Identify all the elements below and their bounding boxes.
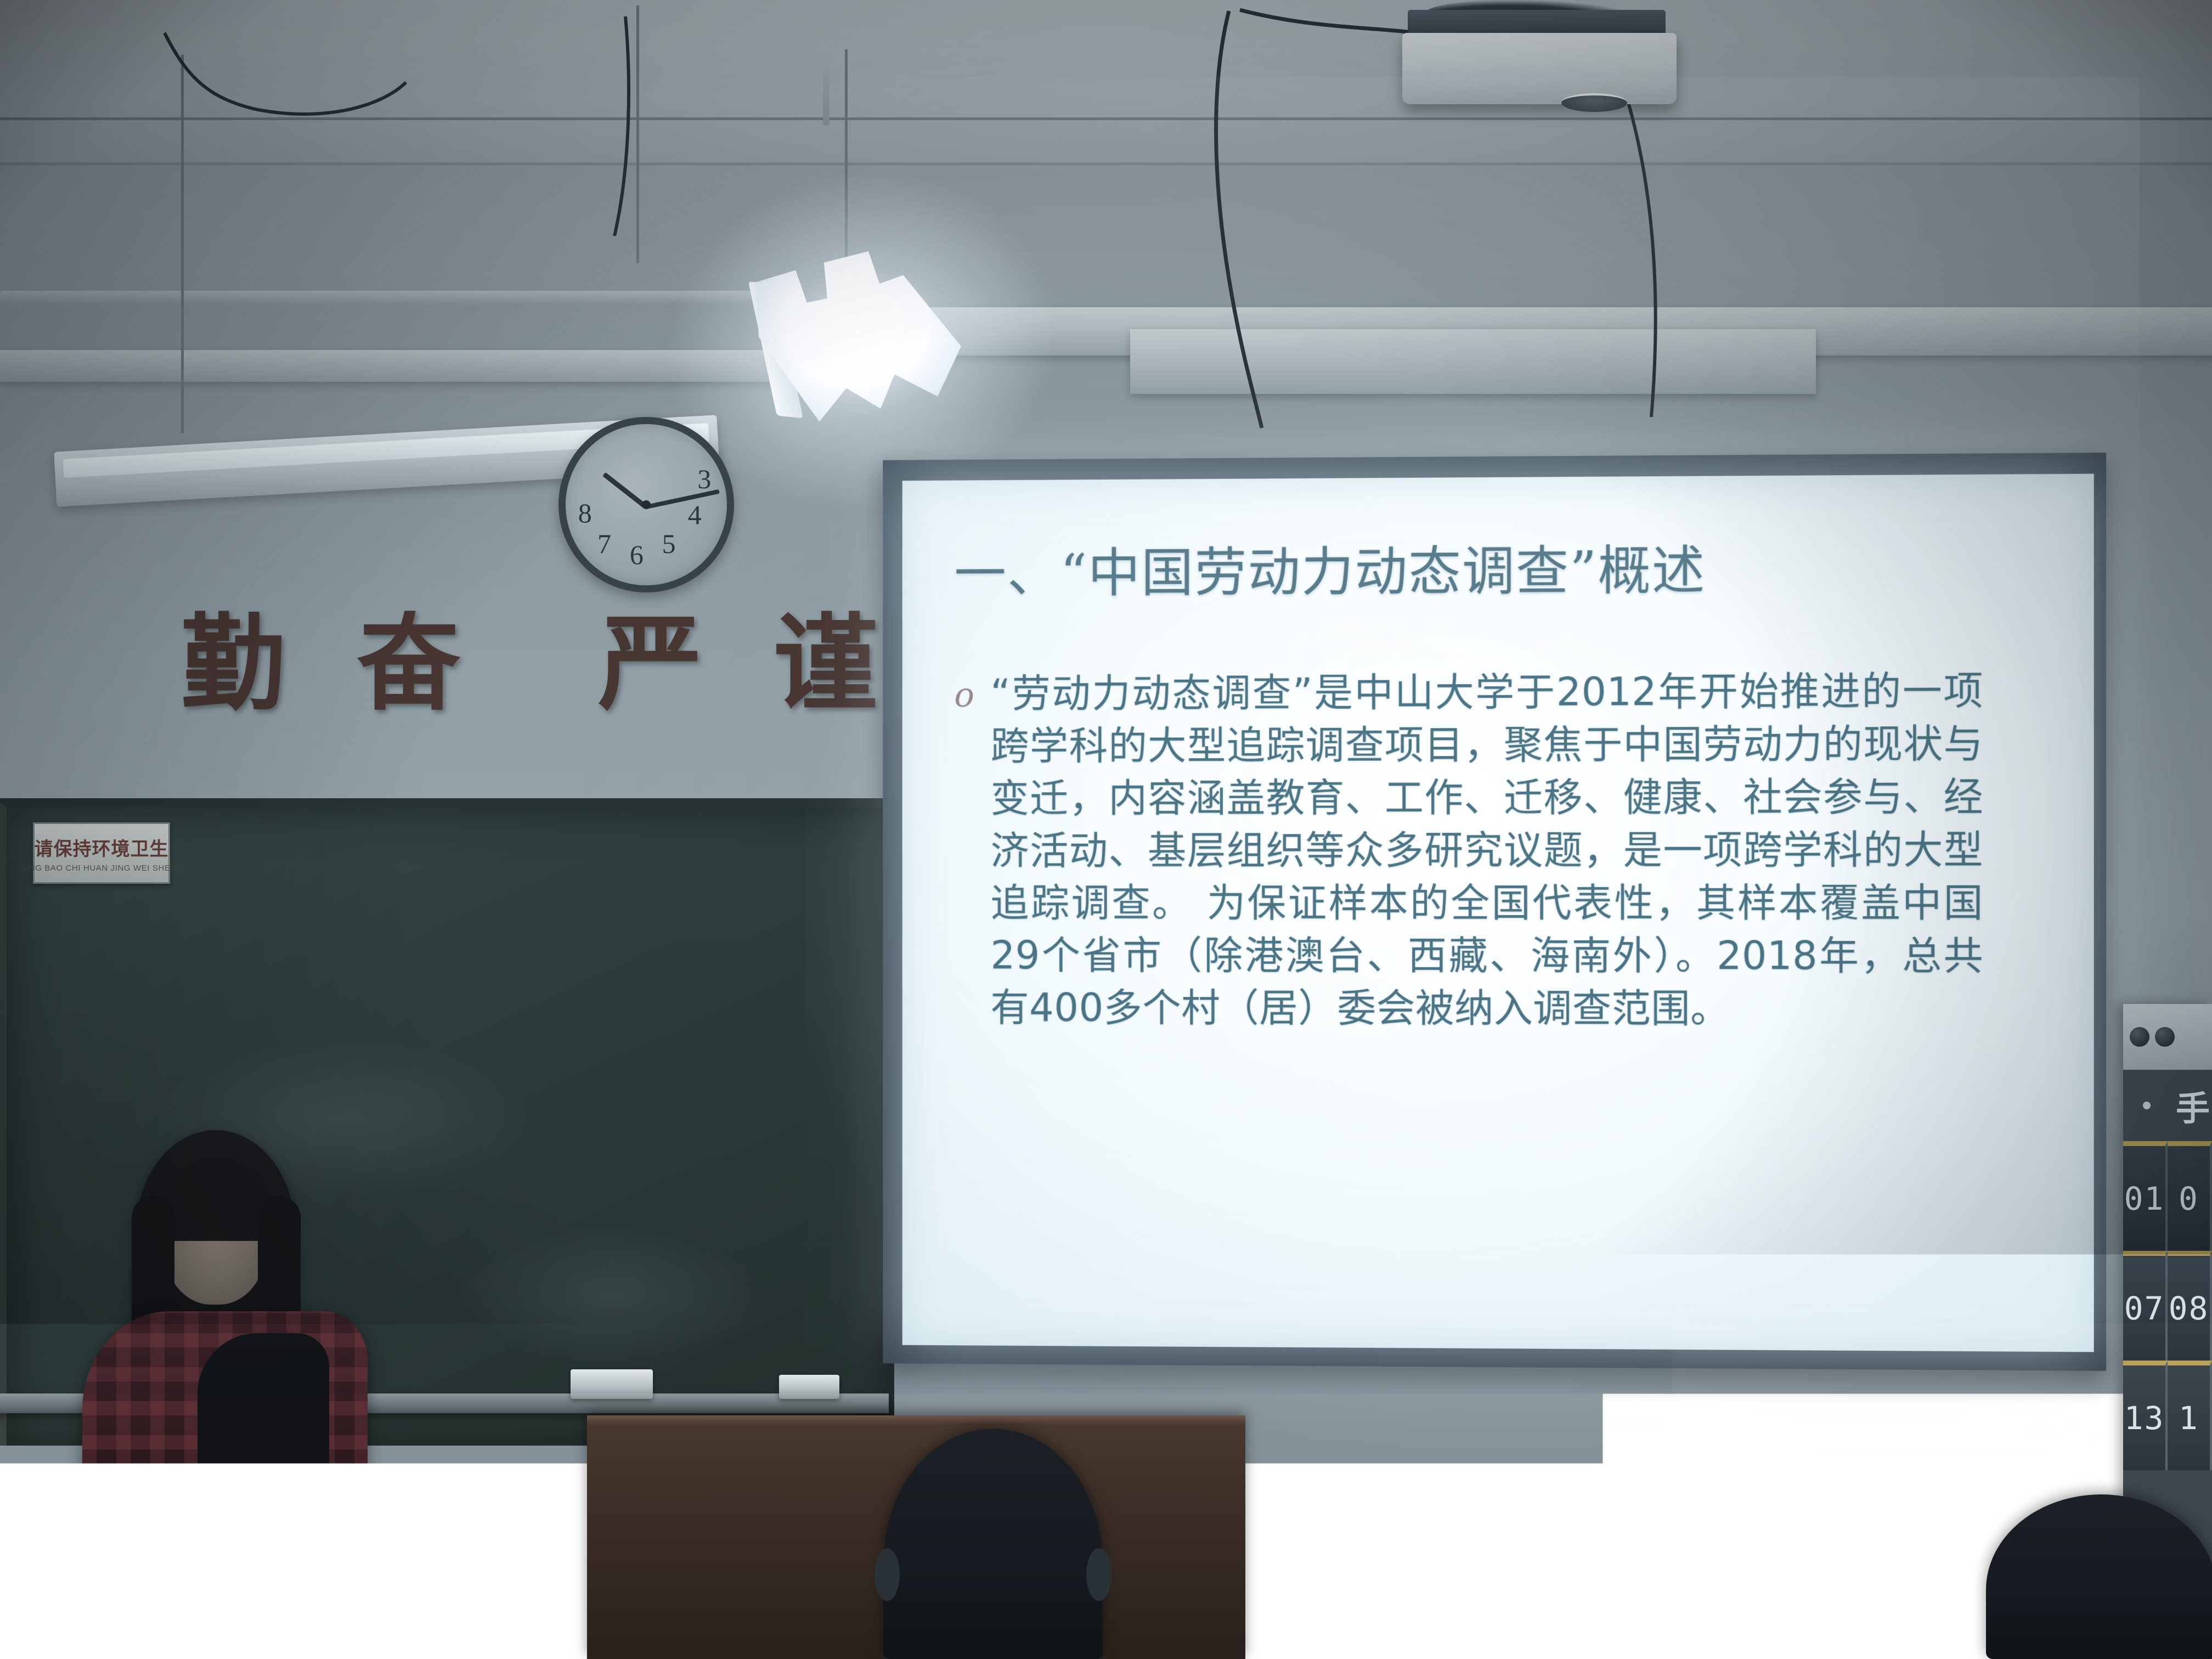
pocket-slot[interactable]: 13 xyxy=(2123,1361,2168,1470)
clock-numeral-6: 6 xyxy=(630,539,644,571)
pocket-slot[interactable]: 01 xyxy=(2123,1141,2168,1251)
projector-lens xyxy=(1561,93,1627,112)
hair-clip xyxy=(280,1554,316,1590)
slogan-char-1: 勤 xyxy=(181,606,285,721)
ceiling-wires xyxy=(0,0,2212,494)
pocket-chart-title: 手 xyxy=(2123,1075,2212,1136)
clock-hour-hand xyxy=(602,472,648,509)
bullet-icon: o xyxy=(954,668,974,1034)
pocket-chart-knob xyxy=(2130,1027,2149,1047)
hygiene-sign-pinyin: QING BAO CHI HUAN JING WEI SHENG xyxy=(20,864,183,873)
slide-title: 一、“中国劳动力动态调查”概述 xyxy=(954,539,2044,603)
slogan-char-3: 严 xyxy=(598,606,702,721)
blackboard-eraser[interactable] xyxy=(571,1369,653,1399)
classroom-scene: 3 4 5 6 7 8 勤 奋 严 谨 请保持环境卫生 QING BAO CHI… xyxy=(0,0,2212,1659)
clock-center-hub xyxy=(642,500,651,509)
ceiling-projector[interactable] xyxy=(1402,33,1677,104)
projection-screen[interactable]: 一、“中国劳动力动态调查”概述 o “劳动力动态调查”是中山大学于2012年开始… xyxy=(902,474,2094,1352)
hygiene-sign-cn: 请保持环境卫生 xyxy=(35,834,169,861)
clock-numeral-4: 4 xyxy=(688,499,702,531)
chalk-smudge xyxy=(456,1224,764,1367)
pocket-slot[interactable]: 08 xyxy=(2168,1251,2212,1361)
projection-screen-frame: 一、“中国劳动力动态调查”概述 o “劳动力动态调查”是中山大学于2012年开始… xyxy=(883,453,2106,1371)
lectern-logo-en: NORTHW xyxy=(114,1621,240,1650)
clock-minute-hand xyxy=(646,489,720,509)
pocket-chart-knob xyxy=(2155,1027,2175,1047)
pocket-chart-grid: 01 0 07 08 13 1 xyxy=(2123,1141,2212,1470)
pocket-slot[interactable]: 1 xyxy=(2168,1361,2212,1470)
pocket-chart-dot xyxy=(2143,1102,2151,1109)
clock-numeral-3: 3 xyxy=(697,463,711,495)
pocket-chart-title-text: 手 xyxy=(2176,1081,2210,1130)
clock-numeral-7: 7 xyxy=(597,528,611,560)
wall-clock: 3 4 5 6 7 8 xyxy=(558,417,734,592)
pocket-slot[interactable]: 07 xyxy=(2123,1251,2168,1361)
slide-body-text: “劳动力动态调查”是中山大学于2012年开始推进的一项跨学科的大型追踪调查项目，… xyxy=(991,664,1983,1035)
student-ear-left xyxy=(874,1548,900,1601)
slogan-char-2: 奋 xyxy=(357,606,461,721)
clock-numeral-8: 8 xyxy=(578,497,592,529)
pocket-chart-header xyxy=(2123,1004,2212,1070)
clock-numeral-5: 5 xyxy=(662,528,676,560)
wall-slogan: 勤 奋 严 谨 xyxy=(181,606,949,732)
presentation-slide: 一、“中国劳动力动态调查”概述 o “劳动力动态调查”是中山大学于2012年开始… xyxy=(902,474,2094,1352)
hygiene-sign: 请保持环境卫生 QING BAO CHI HUAN JING WEI SHENG xyxy=(33,822,170,884)
student-ear-right xyxy=(1086,1548,1111,1601)
pocket-slot[interactable]: 0 xyxy=(2168,1141,2212,1251)
chalk-box[interactable] xyxy=(779,1375,839,1399)
slide-body-block: o “劳动力动态调查”是中山大学于2012年开始推进的一项跨学科的大型追踪调查项… xyxy=(954,664,2044,1035)
slogan-char-4: 谨 xyxy=(774,606,878,721)
